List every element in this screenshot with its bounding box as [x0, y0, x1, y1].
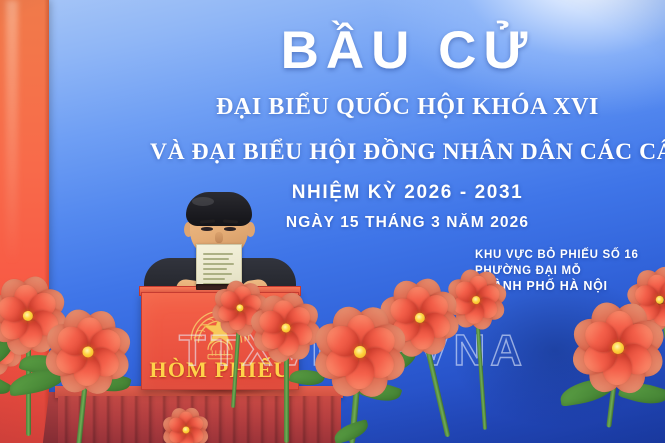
flower-petals	[319, 311, 402, 394]
paper-flower	[252, 294, 320, 362]
paper-flower	[49, 313, 128, 392]
flower-petals	[576, 306, 660, 390]
flower-petals	[252, 294, 320, 362]
paper-flower	[319, 311, 402, 394]
paper-flower	[576, 306, 660, 390]
flower-center	[183, 427, 190, 434]
flower-petals	[166, 410, 206, 443]
flower-petals	[49, 313, 128, 392]
paper-flower	[166, 410, 206, 443]
photograph: BẦU CỬ ĐẠI BIỂU QUỐC HỘI KHÓA XVI VÀ ĐẠI…	[0, 0, 665, 443]
